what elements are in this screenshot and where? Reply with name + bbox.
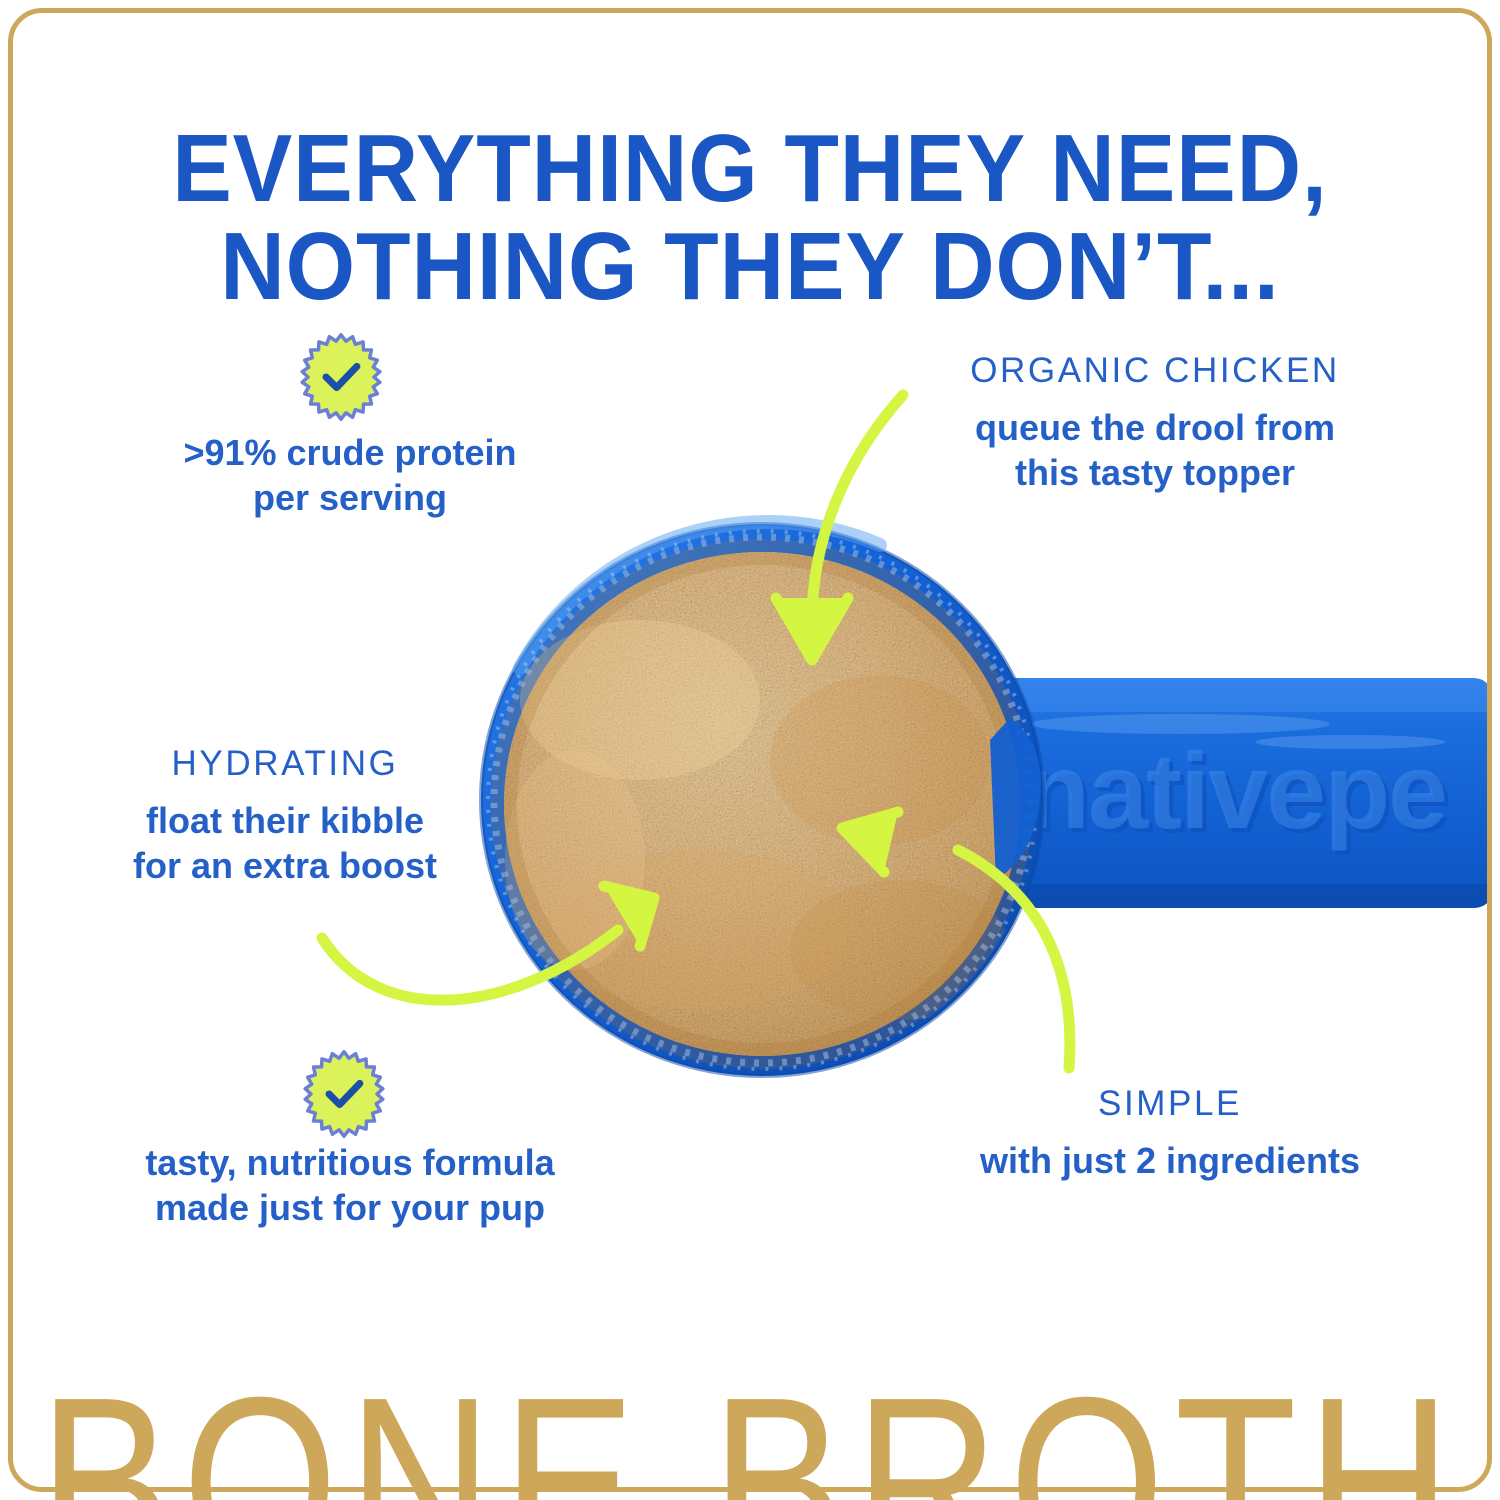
callout-tasty-line-1: tasty, nutritious formula (90, 1140, 610, 1185)
callout-chicken-line-2: this tasty topper (905, 450, 1405, 495)
callout-simple-body: with just 2 ingredients (945, 1138, 1395, 1183)
scoop-bowl (481, 522, 1043, 1076)
callout-tasty-line-2: made just for your pup (90, 1185, 610, 1230)
scoop-handle: nativepe nativepe (1000, 678, 1492, 908)
callout-protein-line-2: per serving (100, 475, 600, 520)
callout-protein-line-1: >91% crude protein (100, 430, 600, 475)
svg-text:nativepe: nativepe (1028, 734, 1450, 855)
callout-hydrating-kicker: HYDRATING (60, 745, 510, 784)
svg-text:nativepe: nativepe (1024, 730, 1446, 851)
callout-chicken-kicker: ORGANIC CHICKEN (905, 352, 1405, 391)
check-badge-icon (297, 333, 385, 421)
callout-organic-chicken: ORGANIC CHICKEN queue the drool from thi… (905, 352, 1405, 495)
callout-hydrating-body: float their kibble for an extra boost (60, 798, 510, 889)
callout-chicken-body: queue the drool from this tasty topper (905, 405, 1405, 496)
page-title: EVERYTHING THEY NEED, NOTHING THEY DON’T… (53, 120, 1448, 316)
callout-protein-body: >91% crude protein per serving (100, 430, 600, 521)
headline-line-2: NOTHING THEY DON’T... (53, 218, 1448, 316)
starburst-shape (305, 1052, 383, 1136)
headline-line-1: EVERYTHING THEY NEED, (172, 115, 1328, 222)
callout-hydrating-line-2: for an extra boost (60, 843, 510, 888)
callout-protein: >91% crude protein per serving (100, 430, 600, 521)
callout-hydrating-line-1: float their kibble (60, 798, 510, 843)
callout-tasty-body: tasty, nutritious formula made just for … (90, 1140, 610, 1231)
product-wordmark: BONE BROTH (0, 1362, 1500, 1500)
callout-tasty-formula: tasty, nutritious formula made just for … (90, 1140, 610, 1231)
arrow-simple (842, 812, 1070, 1068)
arrow-hydrating (322, 886, 654, 1000)
starburst-shape (302, 335, 380, 419)
arrow-chicken (776, 395, 903, 660)
check-badge-icon (300, 1050, 388, 1138)
callout-hydrating: HYDRATING float their kibble for an extr… (60, 745, 510, 888)
callout-simple-kicker: SIMPLE (945, 1085, 1395, 1124)
infographic-canvas: nativepe nativepe (0, 0, 1500, 1500)
callout-chicken-line-1: queue the drool from (905, 405, 1405, 450)
callout-simple: SIMPLE with just 2 ingredients (945, 1085, 1395, 1183)
callout-simple-line-1: with just 2 ingredients (945, 1138, 1395, 1183)
